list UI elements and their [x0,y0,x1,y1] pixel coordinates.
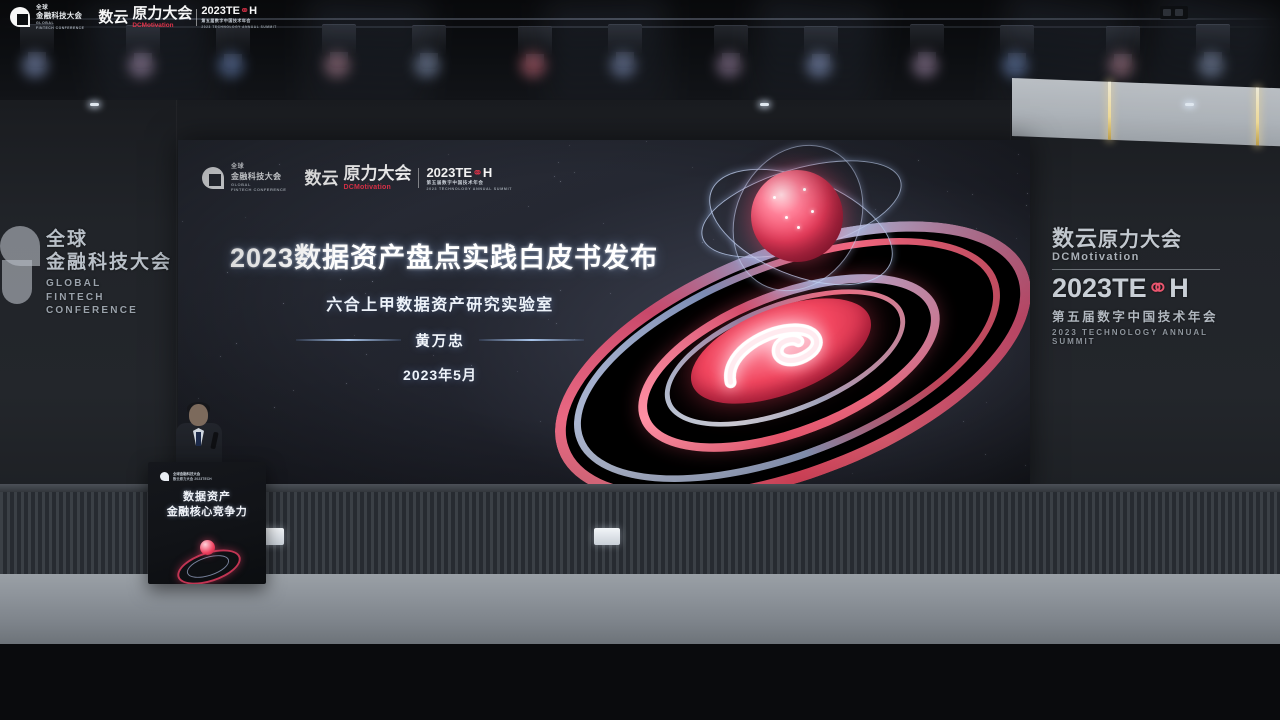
upper-wall-band [1012,78,1280,146]
right-sign-tech-tail: H [1169,273,1189,303]
watermark-dcmotivation: DCMotivation [132,22,192,29]
watermark-shuyun: 数云 [98,10,128,25]
right-sign-yuanli: 原力大会 [1098,229,1182,251]
left-sign-en-line2: FINTECH CONFERENCE [46,291,182,318]
watermark-tech-word: TE [226,5,240,17]
podium-logo: 全球金融科技大会 数云原力大会 2023TECH [160,472,212,481]
wall-accent-light [1256,87,1259,145]
watermark-gfc-logo: 全球 金融科技大会 GLOBAL FINTECH CONFERENCE [10,5,84,30]
house-light [90,103,99,106]
right-wall-signage: 数云原力大会 DCMotivation 2023TE⚭H 第五届数字中国技术年会… [1052,228,1228,346]
main-led-screen: 全球 金融科技大会 GLOBAL FINTECH CONFERENCE 数云 原… [178,140,1030,492]
left-wall-signage: 全球 金融科技大会 GLOBAL FINTECH CONFERENCE [12,228,182,318]
fintech-bowl-logo-icon [10,7,31,28]
left-sign-cn-line1: 全球 [46,228,182,251]
watermark-divider [196,9,197,26]
right-sign-tech: TE [1112,273,1147,303]
podium-title-line2: 金融核心竞争力 [148,505,266,520]
watermark-tech-cn: 第五届数字中国技术年会 [201,18,276,24]
screen-vignette [178,140,1030,492]
right-sign-divider [1052,269,1220,270]
house-light [760,103,769,106]
watermark-dcm-logo: 数云 原力大会 DCMotivation 2023TE⚭H 第五届数字中国技术年… [98,6,276,29]
stage-light-glow [22,52,48,78]
broadcast-watermark: 全球 金融科技大会 GLOBAL FINTECH CONFERENCE 数云 原… [10,5,277,30]
fintech-bowl-logo-icon [160,472,169,481]
stage-light-glow [218,52,244,78]
watermark-yuanli: 原力大会 [132,6,192,21]
left-sign-en-line1: GLOBAL [46,277,182,291]
camera-icon [1160,6,1188,19]
stage-light-glow [716,52,742,78]
conference-stage-scene: 全球 金融科技大会 GLOBAL FINTECH CONFERENCE 数云原力… [0,0,1280,720]
watermark-tech-en: 2023 TECHNOLOGY ANNUAL SUMMIT [201,25,276,29]
stage-light-glow [912,52,938,78]
watermark-tech-tail: H [249,5,257,17]
right-sign-year: 2023 [1052,273,1112,303]
left-sign-cn-line2: 金融科技大会 [46,251,182,274]
podium-logo-text-2: 数云原力大会 2023TECH [173,476,212,481]
watermark-gfc-en2: FINTECH CONFERENCE [36,26,84,30]
right-sign-shuyun: 数云 [1052,226,1098,251]
wall-accent-light [1108,82,1111,140]
speaker-person [176,404,222,466]
right-sign-cn-summit: 第五届数字中国技术年会 [1052,306,1228,325]
right-sign-dcmotivation: DCMotivation [1052,251,1228,263]
right-sign-en-summit: 2023 TECHNOLOGY ANNUAL SUMMIT [1052,328,1228,346]
stage-light-fixture [910,24,944,54]
podium-title-line1: 数据资产 [148,490,266,505]
watermark-gfc-cn2: 金融科技大会 [36,12,84,21]
stage-light-glow [520,52,546,78]
house-light [1185,103,1194,106]
fintech-bowl-logo-icon [0,226,44,304]
audience-area [0,520,1280,720]
watermark-tech-logo: 2023TE⚭H 第五届数字中国技术年会 2023 TECHNOLOGY ANN… [201,6,276,29]
watermark-tech-year: 2023 [201,5,225,17]
stage-light-fixture [714,25,748,55]
